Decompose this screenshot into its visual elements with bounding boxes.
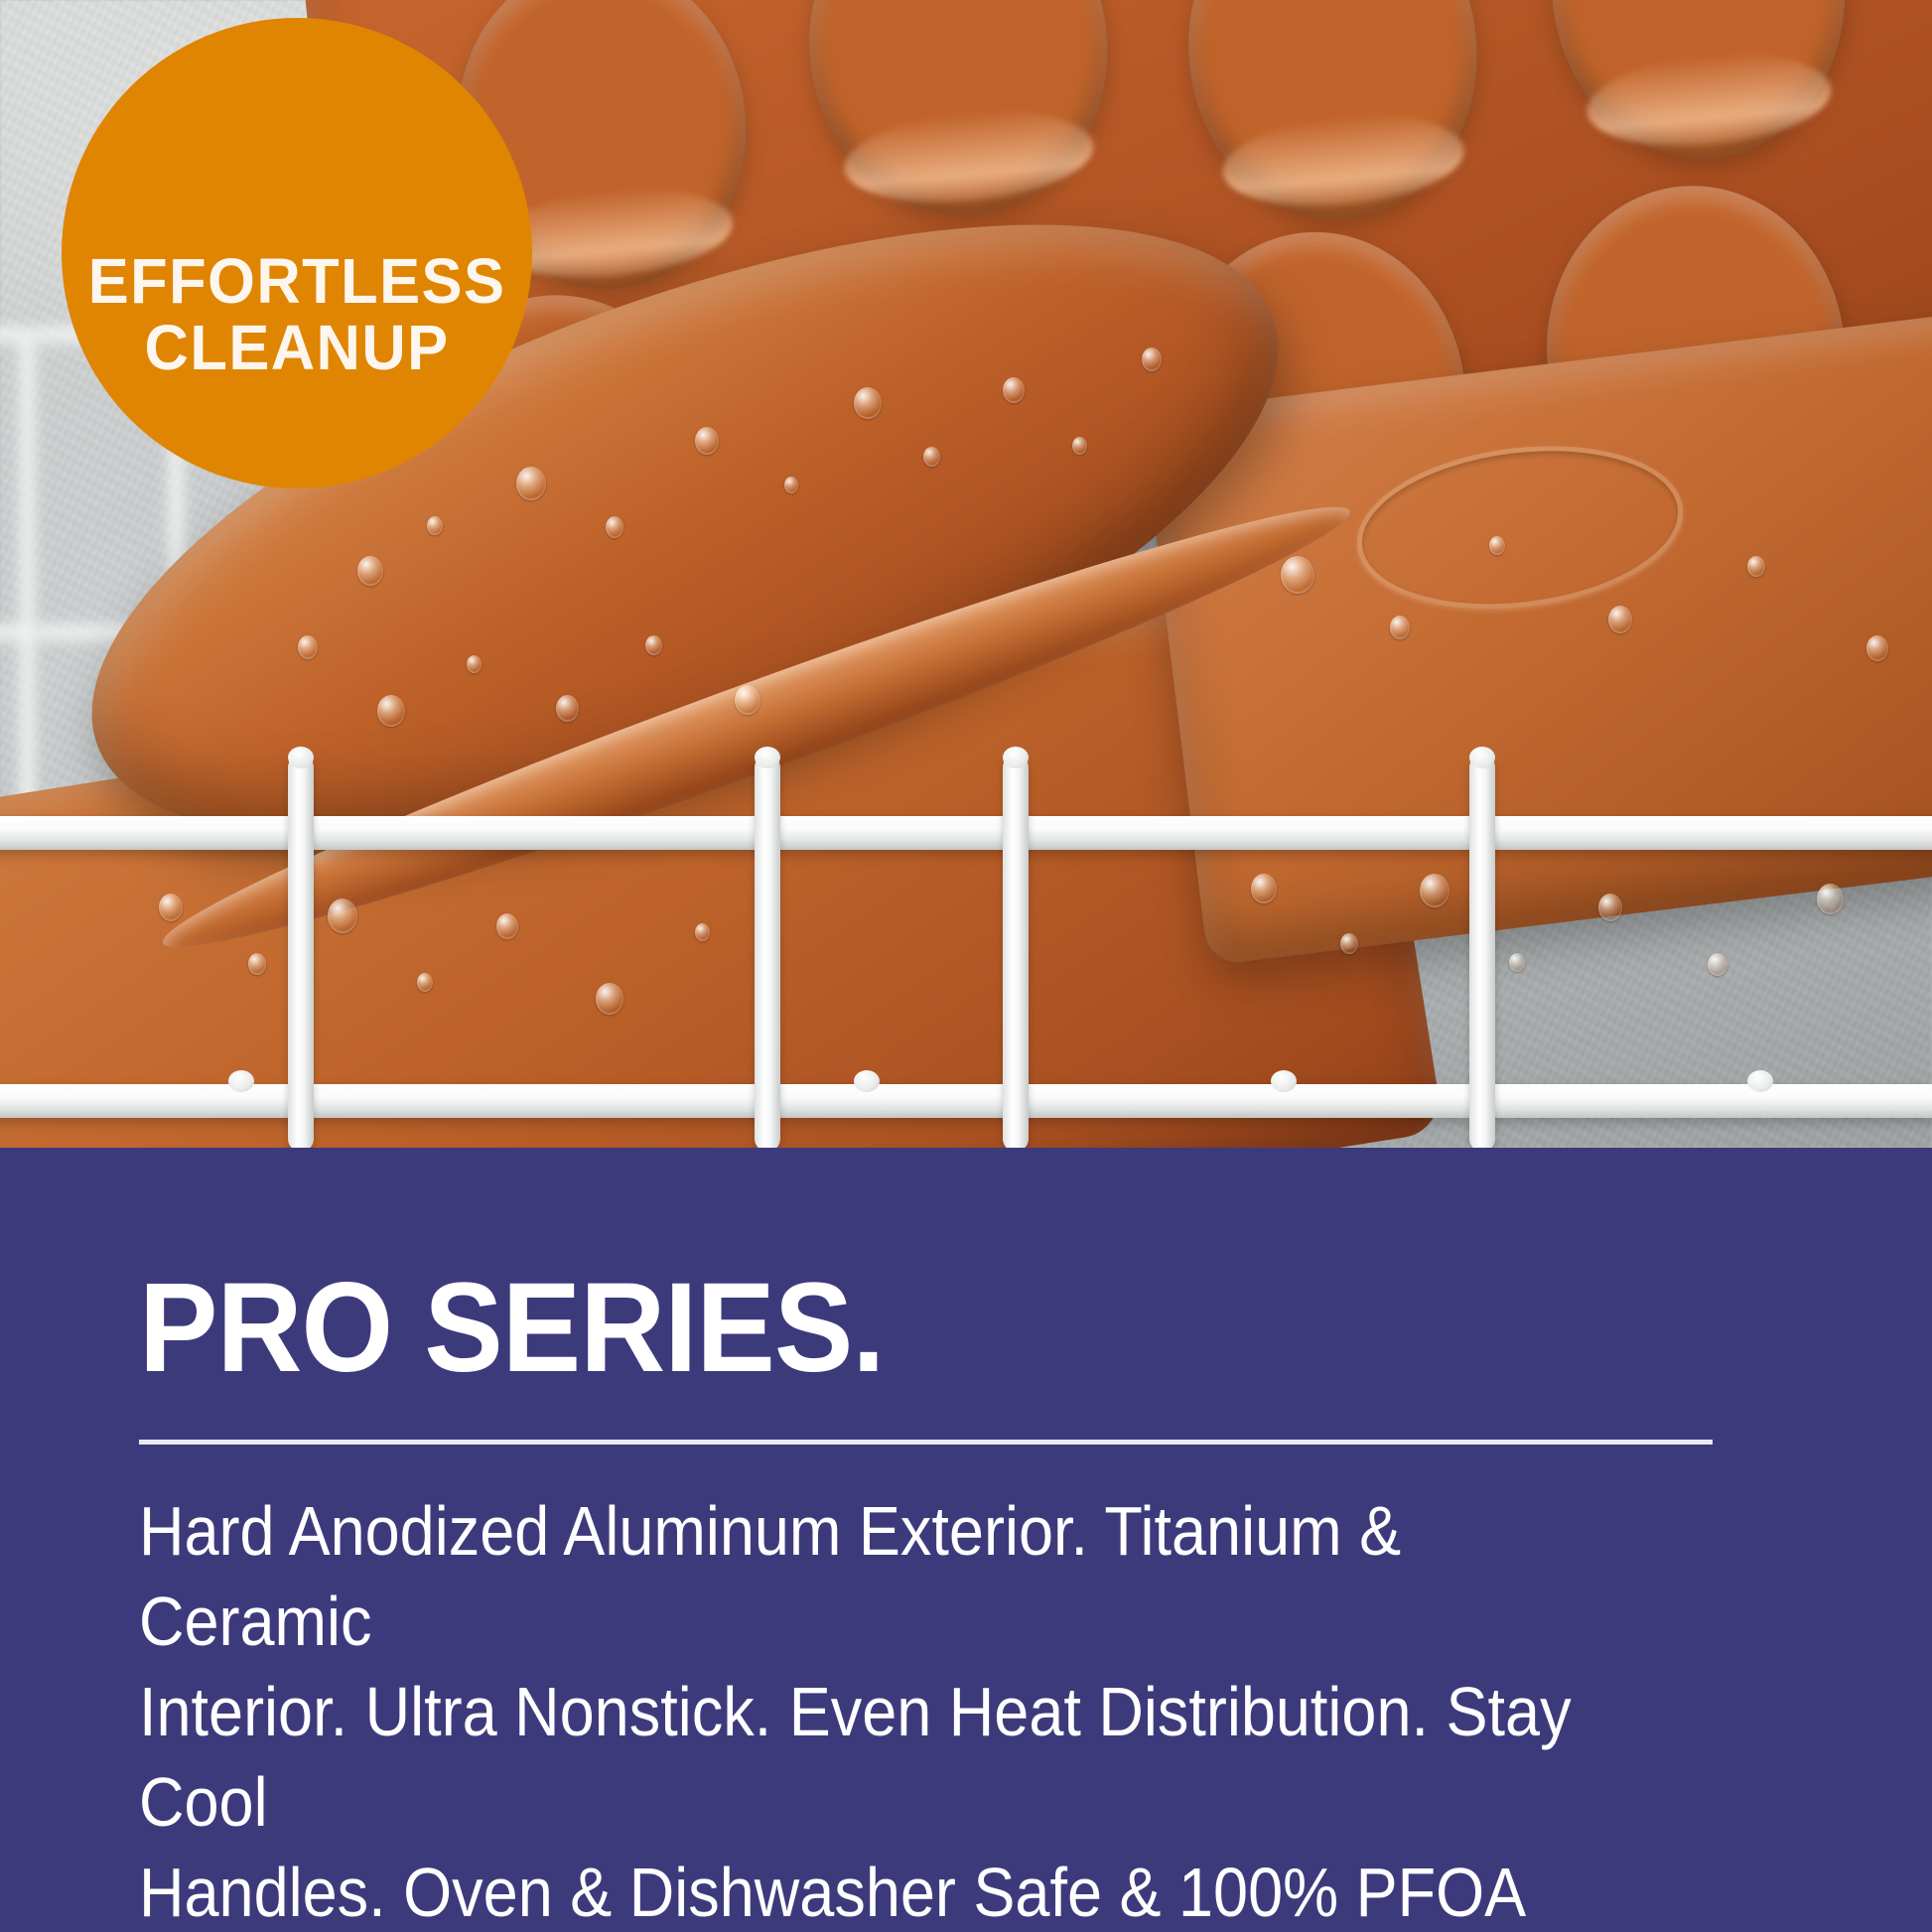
page-title: PRO SERIES. (139, 1265, 1696, 1392)
muffin-cup (1173, 0, 1492, 232)
product-ad-card: EFFORTLESSCLEANUP PRO SERIES. Hard Anodi… (0, 0, 1932, 1932)
muffin-cup (794, 0, 1123, 228)
divider (139, 1440, 1713, 1445)
effortless-cleanup-badge: EFFORTLESSCLEANUP (62, 18, 532, 488)
product-photo: EFFORTLESSCLEANUP (0, 0, 1932, 1148)
info-panel: PRO SERIES. Hard Anodized Aluminum Exter… (0, 1148, 1932, 1932)
muffin-cup (1536, 0, 1861, 172)
badge-line-2: CLEANUP (144, 312, 449, 383)
badge-line-1: EFFORTLESS (88, 245, 506, 317)
feature-description: Hard Anodized Aluminum Exterior. Titaniu… (139, 1486, 1645, 1932)
badge-label: EFFORTLESSCLEANUP (88, 248, 506, 381)
embossed-brand-logo (1347, 429, 1692, 626)
